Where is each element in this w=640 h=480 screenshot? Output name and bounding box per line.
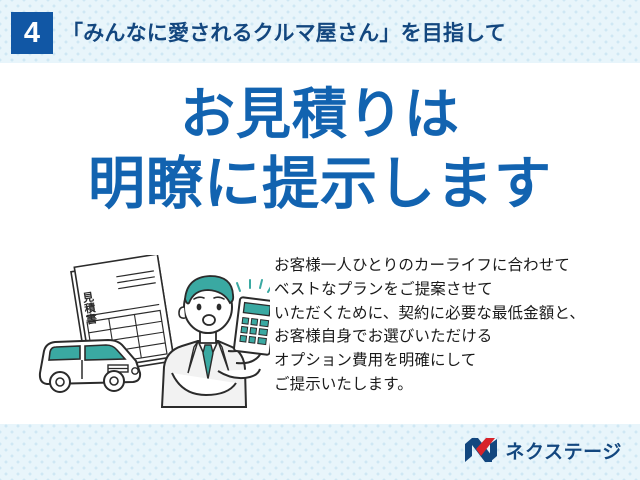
content-panel: お見積りは 明瞭に提示します お客様一人ひとりのカーライフに合わせて ベストなプ… <box>0 63 640 424</box>
headline-line-2: 明瞭に提示します <box>0 156 640 213</box>
sparkle-icon <box>237 280 270 292</box>
body-copy-line: オプション費用を明確にして <box>274 349 585 373</box>
body-copy-line: お客様一人ひとりのカーライフに合わせて <box>274 254 585 278</box>
brand-logo: ネクステージ <box>464 435 622 465</box>
body-copy-line: いただくために、契約に必要な最低金額と、 <box>274 302 585 326</box>
body-copy-line: ベストなプランをご提案させて <box>274 278 585 302</box>
header-title: 「みんなに愛されるクルマ屋さん」を目指して <box>62 17 506 47</box>
advertisement-page: 4 「みんなに愛されるクルマ屋さん」を目指して お見積りは 明瞭に提示します お… <box>0 0 640 480</box>
headline-line-1: お見積りは <box>0 87 640 142</box>
van-icon <box>40 340 140 392</box>
body-copy-line: お客様自身でお選びいただける <box>274 325 585 349</box>
section-number-badge: 4 <box>11 12 53 54</box>
calculator-icon <box>234 297 270 355</box>
brand-logo-text: ネクステージ <box>505 437 622 464</box>
footer-band: ネクステージ <box>0 424 640 480</box>
body-copy: お客様一人ひとりのカーライフに合わせて ベストなプランをご提案させて いただくた… <box>274 254 585 397</box>
headline: お見積りは 明瞭に提示します <box>0 87 640 213</box>
body-copy-line: ご提示いたします。 <box>274 373 585 397</box>
nextage-n-logo-icon <box>464 437 498 463</box>
header-band: 4 「みんなに愛されるクルマ屋さん」を目指して <box>0 0 640 63</box>
salesman-illustration: 見積書 <box>22 255 270 415</box>
